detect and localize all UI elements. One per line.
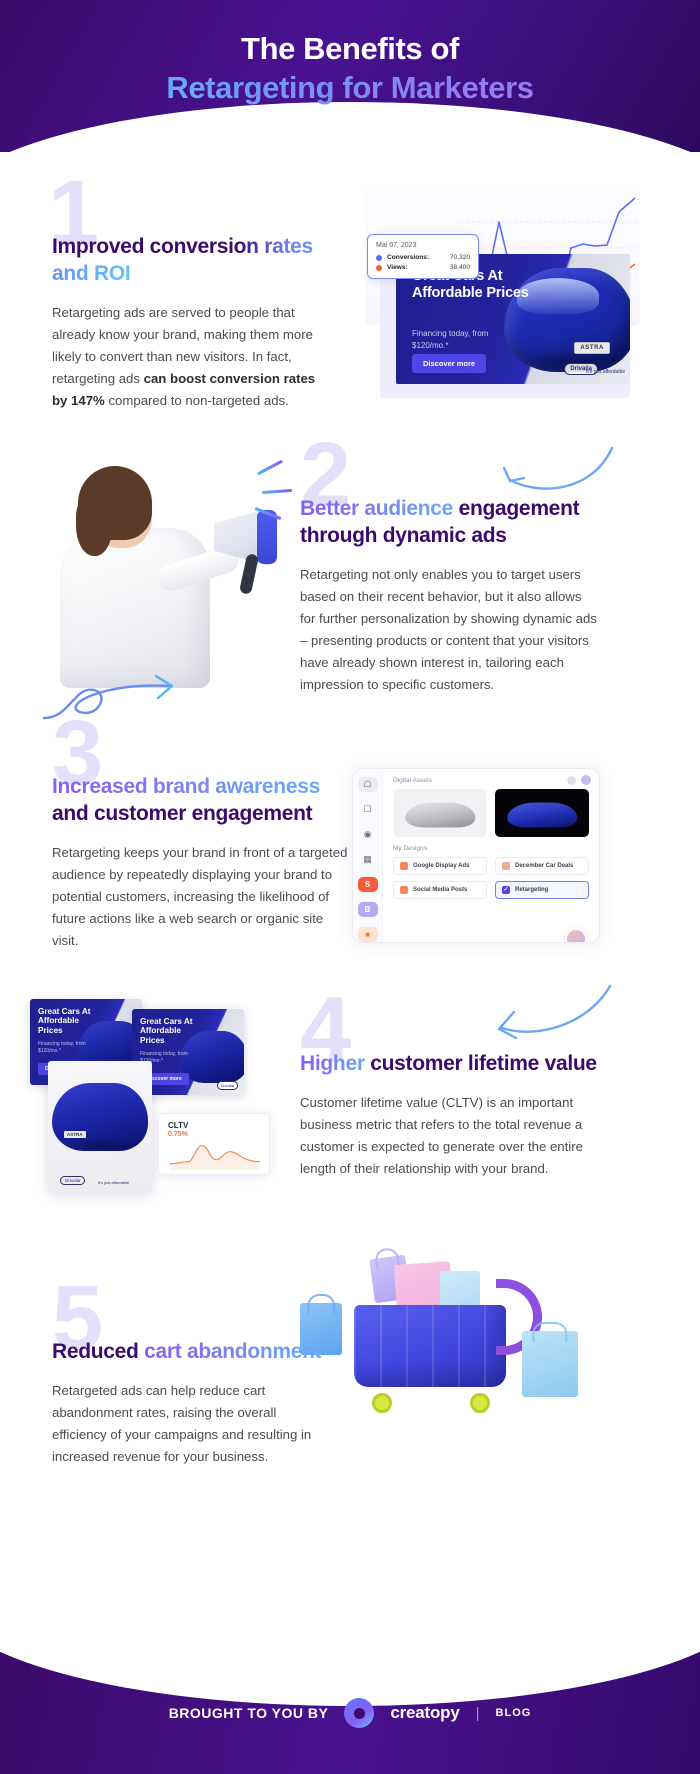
section-heading-3-part2: and customer engagement bbox=[52, 802, 312, 825]
tooltip-row-views: Views: 38,400 bbox=[376, 264, 470, 271]
list-item[interactable]: Social Media Posts bbox=[393, 881, 487, 899]
conversions-legend-dot bbox=[376, 255, 382, 261]
section-heading-5: Reduced cart abandonment bbox=[52, 1339, 332, 1366]
mini-ad-title: Great Cars At Affordable Prices bbox=[38, 1007, 100, 1035]
section-4: 4 Higher customer lifetime value Custome… bbox=[300, 995, 600, 1180]
tooltip-conversions-label: Conversions: bbox=[387, 254, 437, 261]
peach-badge-icon[interactable]: ■ bbox=[358, 927, 378, 942]
tool-topbar bbox=[567, 775, 591, 785]
creatopy-brand-name: creatopy bbox=[390, 1703, 459, 1723]
page-header: The Benefits of Retargeting for Marketer… bbox=[0, 0, 700, 152]
section-1: 1 Improved conversion rates and ROI Reta… bbox=[52, 178, 332, 412]
header-inner: The Benefits of Retargeting for Marketer… bbox=[0, 0, 700, 108]
section-heading-1-part1: Improved bbox=[52, 235, 150, 258]
section-heading-5-part2: cart abandonment bbox=[144, 1340, 321, 1363]
tool-main-panel: Digital Assets My Designs Google Display… bbox=[383, 769, 599, 942]
woman-with-megaphone-illustration bbox=[44, 440, 294, 690]
megaphone-band bbox=[257, 510, 277, 564]
views-legend-dot bbox=[376, 265, 382, 271]
section-2: 2 Better audience engagement through dyn… bbox=[300, 440, 600, 697]
shopping-cart-illustration bbox=[300, 1245, 630, 1460]
sound-line-2 bbox=[262, 489, 292, 494]
target-icon[interactable]: ◉ bbox=[358, 827, 378, 842]
sound-line-1 bbox=[257, 460, 283, 476]
cltv-metric-card: CLTV 0.75% bbox=[158, 1113, 270, 1175]
section-body-4: Customer lifetime value (CLTV) is an imp… bbox=[300, 1092, 600, 1181]
footer-separator: | bbox=[476, 1705, 480, 1722]
color-swatch-icon bbox=[502, 862, 510, 870]
my-designs-label: My Designs bbox=[393, 845, 589, 852]
home-icon[interactable]: ☖ bbox=[358, 777, 378, 792]
list-item-selected[interactable]: ✓ Retargeting bbox=[495, 881, 589, 899]
large-ad-banner: ASTRA Drivalia It's just affordable bbox=[48, 1061, 152, 1193]
tooltip-views-value: 38,400 bbox=[450, 264, 470, 271]
design-tool-mockup: ☖ ☐ ◉ ▦ S B ■ Digital Assets My Designs … bbox=[352, 768, 600, 943]
section-heading-4-part1: Higher bbox=[300, 1052, 370, 1075]
user-avatar[interactable] bbox=[565, 928, 587, 943]
section-heading-2-part1: Better audience bbox=[300, 497, 459, 520]
list-item[interactable]: Google Display Ads bbox=[393, 857, 487, 875]
silver-car-image bbox=[405, 802, 475, 827]
ad-tagline: It's just affordable bbox=[586, 369, 625, 375]
section-heading-3-part1: Increased brand awareness bbox=[52, 775, 320, 798]
license-plate: ASTRA bbox=[64, 1131, 86, 1138]
section-5: 5 Reduced cart abandonment Retargeted ad… bbox=[52, 1283, 332, 1468]
blue-car-image bbox=[507, 802, 577, 827]
section-1-visual: Mai 07, 2023 Conversions: 70,320 Views: … bbox=[350, 176, 650, 421]
page-title-line-1: The Benefits of bbox=[0, 30, 700, 69]
file-label: Google Display Ads bbox=[413, 863, 469, 869]
file-row-2: Social Media Posts ✓ Retargeting bbox=[393, 881, 589, 899]
creatopy-logo-icon bbox=[344, 1698, 374, 1728]
tooltip-row-conversions: Conversions: 70,320 bbox=[376, 254, 470, 261]
section-heading-4: Higher customer lifetime value bbox=[300, 1051, 600, 1078]
shopping-bag-cyan bbox=[522, 1331, 578, 1397]
section-body-3: Retargeting keeps your brand in front of… bbox=[52, 842, 352, 953]
cart-wheel-left bbox=[372, 1393, 392, 1413]
avatar[interactable] bbox=[581, 775, 591, 785]
section-body-5: Retargeted ads can help reduce cart aban… bbox=[52, 1380, 332, 1469]
section-body-2: Retargeting not only enables you to targ… bbox=[300, 564, 600, 697]
chart-tooltip: Mai 07, 2023 Conversions: 70,320 Views: … bbox=[367, 234, 479, 279]
megaphone-icon bbox=[209, 500, 297, 576]
mini-ad-title: Great Cars At Affordable Prices bbox=[140, 1017, 202, 1045]
cltv-value: 0.75% bbox=[168, 1131, 260, 1138]
footer-blog-link[interactable]: BLOG bbox=[496, 1707, 532, 1719]
b-badge-icon[interactable]: B bbox=[358, 902, 378, 917]
folder-icon[interactable]: ☐ bbox=[358, 802, 378, 817]
license-plate: ASTRA bbox=[574, 342, 610, 354]
checkbox-checked-icon[interactable]: ✓ bbox=[502, 886, 510, 894]
discover-more-button[interactable]: Discover more bbox=[412, 354, 486, 373]
page-title-line-2: Retargeting for Marketers bbox=[0, 69, 700, 108]
cltv-sparkline bbox=[168, 1140, 262, 1170]
color-swatch-icon bbox=[400, 862, 408, 870]
woman-hair-back bbox=[76, 496, 112, 556]
file-label: Retargeting bbox=[515, 887, 548, 893]
tooltip-date: Mai 07, 2023 bbox=[376, 242, 470, 249]
woman-body bbox=[60, 528, 210, 688]
section-heading-5-part1: Reduced bbox=[52, 1340, 144, 1363]
ad-tagline: It's just affordable bbox=[98, 1180, 129, 1185]
brought-to-you-by-label: BROUGHT TO YOU BY bbox=[169, 1705, 329, 1721]
section-4-visual: Great Cars At Affordable Prices Financin… bbox=[20, 995, 300, 1230]
cltv-title: CLTV bbox=[168, 1121, 260, 1130]
megaphone-handle bbox=[239, 553, 259, 595]
ad-preview-wrapper: ASTRA Great Cars At Affordable Prices Fi… bbox=[380, 264, 630, 398]
tool-sidebar: ☖ ☐ ◉ ▦ S B ■ bbox=[353, 769, 383, 942]
car-illustration bbox=[52, 1083, 148, 1151]
file-label: December Car Deals bbox=[515, 863, 573, 869]
ad-subtitle: Financing today, from $120/mo.* bbox=[412, 328, 522, 351]
file-row-1: Google Display Ads December Car Deals bbox=[393, 857, 589, 875]
mini-ad-subtitle: Financing today, from $120/mo.* bbox=[38, 1041, 96, 1056]
asset-row bbox=[393, 789, 589, 837]
section-heading-4-part2: customer lifetime value bbox=[370, 1052, 597, 1075]
section-3: 3 Increased brand awareness and customer… bbox=[52, 718, 352, 952]
search-icon[interactable] bbox=[567, 776, 576, 785]
list-item[interactable]: December Car Deals bbox=[495, 857, 589, 875]
tooltip-views-label: Views: bbox=[387, 264, 437, 271]
color-swatch-icon bbox=[400, 886, 408, 894]
section-heading-1: Improved conversion rates and ROI bbox=[52, 234, 332, 288]
section-heading-2: Better audience engagement through dynam… bbox=[300, 496, 600, 550]
asset-thumbnail-silver-car[interactable] bbox=[393, 789, 487, 837]
s-badge-icon[interactable]: S bbox=[358, 877, 378, 892]
cart-wheel-right bbox=[470, 1393, 490, 1413]
drivalia-logo: Drivalia bbox=[217, 1081, 238, 1090]
drivalia-logo: Drivalia bbox=[60, 1176, 85, 1185]
asset-thumbnail-blue-car[interactable] bbox=[495, 789, 589, 837]
section-body-1-end: compared to non-targeted ads. bbox=[105, 393, 289, 408]
section-heading-3: Increased brand awareness and customer e… bbox=[52, 774, 352, 828]
tooltip-conversions-value: 70,320 bbox=[450, 254, 470, 261]
section-body-1: Retargeting ads are served to people tha… bbox=[52, 302, 332, 413]
digital-assets-label: Digital Assets bbox=[393, 777, 589, 784]
cart-grid-lines bbox=[354, 1305, 506, 1387]
file-label: Social Media Posts bbox=[413, 887, 467, 893]
grid-icon[interactable]: ▦ bbox=[358, 852, 378, 867]
page-footer: BROUGHT TO YOU BY creatopy | BLOG bbox=[0, 1652, 700, 1774]
cart-basket bbox=[354, 1305, 506, 1387]
